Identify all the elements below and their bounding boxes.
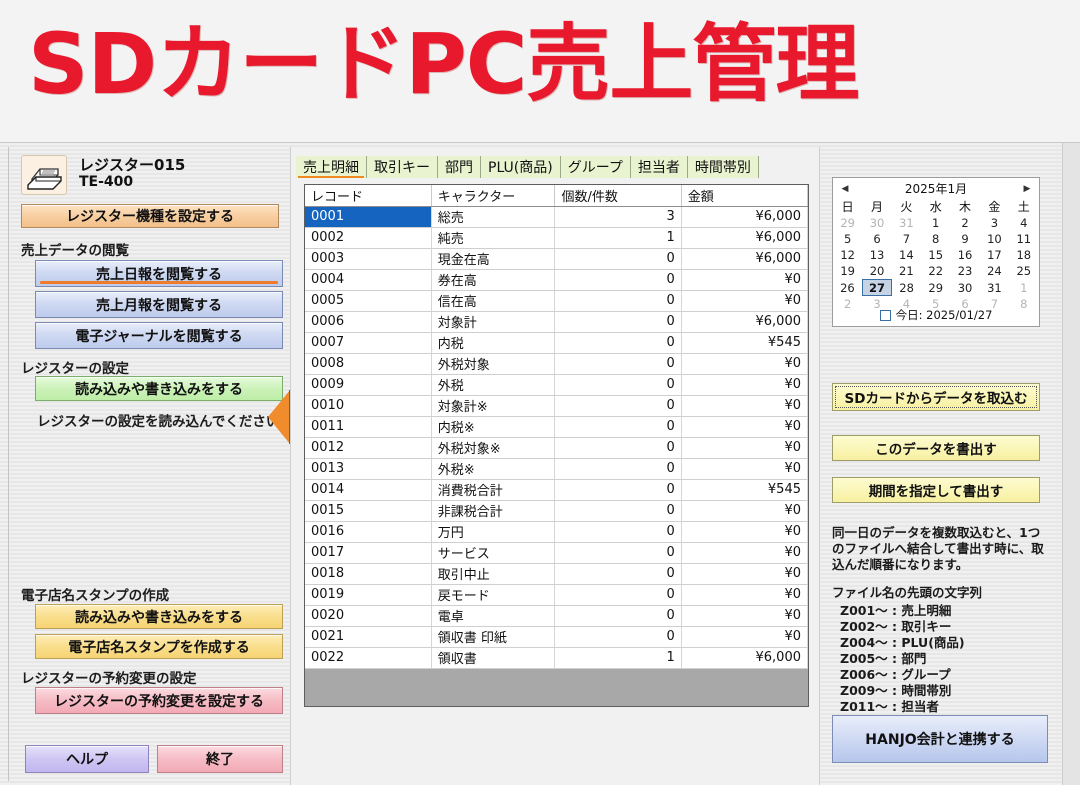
calendar-day-cell[interactable]: 13 bbox=[862, 247, 891, 263]
calendar-weekday: 火 bbox=[892, 198, 921, 215]
grid-cell[interactable]: ¥0 bbox=[681, 374, 807, 395]
stamp-read-write-button[interactable]: 読み込みや書き込みをする bbox=[35, 604, 283, 629]
table-row[interactable]: 0001総売3¥6,000 bbox=[305, 206, 808, 227]
calendar-day-cell[interactable]: 31 bbox=[980, 280, 1009, 296]
grid-cell[interactable]: 0 bbox=[555, 479, 681, 500]
grid-cell[interactable]: ¥0 bbox=[681, 521, 807, 542]
grid-cell[interactable]: 0 bbox=[555, 290, 681, 311]
register-settings-hint: レジスターの設定を読み込んでください。 bbox=[37, 410, 293, 430]
grid-cell[interactable]: 0 bbox=[555, 584, 681, 605]
calendar-day-cell[interactable]: 30 bbox=[950, 280, 979, 296]
calendar-month-label[interactable]: 2025年1月 bbox=[905, 180, 967, 197]
table-row[interactable]: 0022領収書1¥6,000 bbox=[305, 647, 808, 668]
grid-cell[interactable]: 0 bbox=[555, 395, 681, 416]
tab-1[interactable]: 売上明細 bbox=[296, 156, 367, 178]
grid-cell[interactable]: 1 bbox=[555, 227, 681, 248]
app-title: SDカードPC売上管理 bbox=[28, 14, 858, 114]
grid-cell[interactable]: 0016 bbox=[305, 521, 431, 542]
set-register-model-button[interactable]: レジスター機種を設定する bbox=[21, 204, 279, 228]
tab-7[interactable]: 時間帯別 bbox=[688, 156, 759, 178]
register-header: レジスター015 TE-400 bbox=[21, 155, 283, 199]
calendar-day-cell[interactable]: 28 bbox=[892, 280, 921, 296]
main-window: レジスター015 TE-400 レジスター機種を設定する 売上データの閲覧 売上… bbox=[0, 142, 1080, 784]
grid-cell[interactable]: ¥545 bbox=[681, 332, 807, 353]
calendar-day-cell[interactable]: 22 bbox=[921, 263, 950, 280]
calendar-day-cell[interactable]: 11 bbox=[1009, 231, 1038, 247]
grid-cell[interactable]: 0 bbox=[555, 458, 681, 479]
grid-cell[interactable]: 0002 bbox=[305, 227, 431, 248]
calendar-weekday: 日 bbox=[833, 198, 862, 215]
grid-header-row: レコードキャラクター個数/件数金額 bbox=[305, 185, 808, 206]
calendar-day-cell[interactable]: 27 bbox=[862, 280, 891, 296]
table-row[interactable]: 0013外税※0¥0 bbox=[305, 458, 808, 479]
calendar-header: ◀ 2025年1月 ▶ bbox=[833, 178, 1039, 198]
grid-cell[interactable]: 取引中止 bbox=[431, 563, 555, 584]
grid-cell[interactable]: ¥0 bbox=[681, 437, 807, 458]
table-row[interactable]: 0016万円0¥0 bbox=[305, 521, 808, 542]
calendar-day-cell[interactable]: 7 bbox=[892, 231, 921, 247]
grid-cell[interactable]: ¥0 bbox=[681, 416, 807, 437]
set-reservation-change-button[interactable]: レジスターの予約変更を設定する bbox=[35, 687, 283, 714]
grid-cell[interactable]: 0017 bbox=[305, 542, 431, 563]
calendar-day-cell[interactable]: 26 bbox=[833, 280, 862, 296]
calendar-week-row: 2930311234 bbox=[833, 215, 1039, 231]
calendar-day-cell[interactable]: 21 bbox=[892, 263, 921, 280]
calendar-day-cell[interactable]: 14 bbox=[892, 247, 921, 263]
calendar-day-cell[interactable]: 31 bbox=[892, 215, 921, 231]
table-row[interactable]: 0007内税0¥545 bbox=[305, 332, 808, 353]
date-picker-calendar[interactable]: ◀ 2025年1月 ▶ 日月火水木金土 29303112345678910111… bbox=[832, 177, 1040, 327]
grid-cell[interactable]: 電卓 bbox=[431, 605, 555, 626]
today-checkbox[interactable] bbox=[880, 310, 891, 321]
view-daily-report-button[interactable]: 売上日報を閲覧する bbox=[35, 260, 283, 287]
tab-2[interactable]: 取引キー bbox=[367, 156, 438, 178]
calendar-day-cell[interactable]: 29 bbox=[833, 215, 862, 231]
grid-cell[interactable]: 0010 bbox=[305, 395, 431, 416]
calendar-day-cell[interactable]: 2 bbox=[950, 215, 979, 231]
calendar-week-row: 2627282930311 bbox=[833, 280, 1039, 296]
import-from-sd-card-button[interactable]: SDカードからデータを取込む bbox=[832, 383, 1040, 411]
grid-cell[interactable]: 券在高 bbox=[431, 269, 555, 290]
grid-cell[interactable]: ¥0 bbox=[681, 626, 807, 647]
table-row[interactable]: 0015非課税合計0¥0 bbox=[305, 500, 808, 521]
grid-cell[interactable]: 0022 bbox=[305, 647, 431, 668]
grid-cell[interactable]: ¥6,000 bbox=[681, 248, 807, 269]
grid-cell[interactable]: 外税対象※ bbox=[431, 437, 555, 458]
pointer-arrow-icon bbox=[268, 390, 290, 444]
grid-column-header-1[interactable]: レコード bbox=[305, 185, 431, 206]
table-row[interactable]: 0018取引中止0¥0 bbox=[305, 563, 808, 584]
calendar-day-cell[interactable]: 8 bbox=[921, 231, 950, 247]
grid-column-header-2[interactable]: キャラクター bbox=[431, 185, 555, 206]
calendar-today-row[interactable]: 今日: 2025/01/27 bbox=[833, 307, 1039, 323]
grid-cell[interactable]: 0 bbox=[555, 353, 681, 374]
tab-bar: 売上明細取引キー部門PLU(商品)グループ担当者時間帯別 bbox=[296, 155, 759, 178]
calendar-day-cell[interactable]: 24 bbox=[980, 263, 1009, 280]
register-model: TE-400 bbox=[79, 174, 133, 190]
grid-cell[interactable]: 外税対象 bbox=[431, 353, 555, 374]
file-prefix-list: Z001～ : 売上明細 Z002～ : 取引キー Z004～ : PLU(商品… bbox=[840, 603, 965, 715]
calendar-day-cell[interactable]: 9 bbox=[950, 231, 979, 247]
hanjo-link-button[interactable]: HANJO会計と連携する bbox=[832, 715, 1048, 763]
calendar-day-cell[interactable]: 15 bbox=[921, 247, 950, 263]
view-electronic-journal-button[interactable]: 電子ジャーナルを閲覧する bbox=[35, 322, 283, 349]
sidebar: レジスター015 TE-400 レジスター機種を設定する 売上データの閲覧 売上… bbox=[8, 147, 290, 781]
help-button[interactable]: ヘルプ bbox=[25, 745, 149, 773]
import-note-text: 同一日のデータを複数取込むと、1つ のファイルへ結合して書出す時に、取 込んだ順… bbox=[832, 525, 1044, 573]
sales-detail-grid[interactable]: レコードキャラクター個数/件数金額 0001総売3¥6,0000002純売1¥6… bbox=[304, 184, 809, 707]
grid-cell[interactable]: ¥0 bbox=[681, 353, 807, 374]
grid-cell[interactable]: 0 bbox=[555, 563, 681, 584]
calendar-day-cell[interactable]: 17 bbox=[980, 247, 1009, 263]
grid-cell[interactable]: 0014 bbox=[305, 479, 431, 500]
calendar-day-cell[interactable]: 5 bbox=[833, 231, 862, 247]
grid-column-header-4[interactable]: 金額 bbox=[681, 185, 807, 206]
calendar-day-cell[interactable]: 4 bbox=[1009, 215, 1038, 231]
grid-cell[interactable]: 0 bbox=[555, 626, 681, 647]
grid-cell[interactable]: 現金在高 bbox=[431, 248, 555, 269]
grid-cell[interactable]: 0 bbox=[555, 248, 681, 269]
table-row[interactable]: 0006対象計0¥6,000 bbox=[305, 311, 808, 332]
grid-cell[interactable]: 領収書 bbox=[431, 647, 555, 668]
calendar-day-cell[interactable]: 1 bbox=[1009, 280, 1038, 296]
section-label-reservation: レジスターの予約変更の設定 bbox=[21, 667, 197, 687]
calendar-day-cell[interactable]: 10 bbox=[980, 231, 1009, 247]
application-window: SDカードPC売上管理 レジスター015 TE-400 bbox=[0, 0, 1080, 784]
calendar-day-cell[interactable]: 29 bbox=[921, 280, 950, 296]
cash-register-icon bbox=[21, 155, 67, 195]
table-row[interactable]: 0004券在高0¥0 bbox=[305, 269, 808, 290]
calendar-week-row: 567891011 bbox=[833, 231, 1039, 247]
grid-cell[interactable]: 0015 bbox=[305, 500, 431, 521]
grid-cell[interactable]: 0 bbox=[555, 437, 681, 458]
grid-cell[interactable]: ¥6,000 bbox=[681, 647, 807, 668]
table-row[interactable]: 0002純売1¥6,000 bbox=[305, 227, 808, 248]
grid-cell[interactable]: 内税※ bbox=[431, 416, 555, 437]
grid-cell[interactable]: ¥0 bbox=[681, 605, 807, 626]
grid-cell[interactable]: ¥0 bbox=[681, 563, 807, 584]
register-name: レジスター015 bbox=[79, 154, 185, 175]
table-row[interactable]: 0003現金在高0¥6,000 bbox=[305, 248, 808, 269]
tab-4[interactable]: PLU(商品) bbox=[481, 156, 561, 178]
calendar-next-month-icon[interactable]: ▶ bbox=[1021, 183, 1033, 195]
main-content-panel: 売上明細取引キー部門PLU(商品)グループ担当者時間帯別 レコードキャラクター個… bbox=[290, 147, 820, 785]
grid-cell[interactable]: ¥6,000 bbox=[681, 311, 807, 332]
grid-cell[interactable]: 領収書 印紙 bbox=[431, 626, 555, 647]
calendar-weekday: 金 bbox=[980, 198, 1009, 215]
tab-5[interactable]: グループ bbox=[561, 156, 631, 178]
grid-cell[interactable]: 外税※ bbox=[431, 458, 555, 479]
table-row[interactable]: 0019戻モード0¥0 bbox=[305, 584, 808, 605]
calendar-week-row: 12131415161718 bbox=[833, 247, 1039, 263]
grid-cell[interactable]: 対象計※ bbox=[431, 395, 555, 416]
grid-cell[interactable]: ¥6,000 bbox=[681, 206, 807, 227]
grid-cell[interactable]: 0021 bbox=[305, 626, 431, 647]
grid-cell[interactable]: 0006 bbox=[305, 311, 431, 332]
tab-3[interactable]: 部門 bbox=[438, 156, 481, 178]
grid-cell[interactable]: 消費税合計 bbox=[431, 479, 555, 500]
grid-cell[interactable]: 0019 bbox=[305, 584, 431, 605]
calendar-day-cell[interactable]: 25 bbox=[1009, 263, 1038, 280]
grid-cell[interactable]: 0013 bbox=[305, 458, 431, 479]
export-range-button[interactable]: 期間を指定して書出す bbox=[832, 477, 1040, 503]
calendar-day-cell[interactable]: 19 bbox=[833, 263, 862, 280]
grid-cell[interactable]: 1 bbox=[555, 647, 681, 668]
calendar-day-cell[interactable]: 3 bbox=[980, 215, 1009, 231]
calendar-weekday: 水 bbox=[921, 198, 950, 215]
grid-cell[interactable]: ¥0 bbox=[681, 458, 807, 479]
view-monthly-report-button[interactable]: 売上月報を閲覧する bbox=[35, 291, 283, 318]
grid-cell[interactable]: 3 bbox=[555, 206, 681, 227]
grid-cell[interactable]: 0 bbox=[555, 500, 681, 521]
grid-cell[interactable]: 0018 bbox=[305, 563, 431, 584]
grid-cell[interactable]: 総売 bbox=[431, 206, 555, 227]
grid-cell[interactable]: 0 bbox=[555, 374, 681, 395]
grid-cell[interactable]: 0003 bbox=[305, 248, 431, 269]
register-read-write-button[interactable]: 読み込みや書き込みをする bbox=[35, 376, 283, 401]
calendar-day-cell[interactable]: 1 bbox=[921, 215, 950, 231]
grid-cell[interactable]: ¥6,000 bbox=[681, 227, 807, 248]
calendar-day-cell[interactable]: 18 bbox=[1009, 247, 1038, 263]
table-row[interactable]: 0014消費税合計0¥545 bbox=[305, 479, 808, 500]
export-data-button[interactable]: このデータを書出す bbox=[832, 435, 1040, 461]
table-row[interactable]: 0012外税対象※0¥0 bbox=[305, 437, 808, 458]
right-panel: ◀ 2025年1月 ▶ 日月火水木金土 29303112345678910111… bbox=[820, 147, 1060, 785]
grid-cell[interactable]: 万円 bbox=[431, 521, 555, 542]
grid-cell[interactable]: 0008 bbox=[305, 353, 431, 374]
calendar-day-cell[interactable]: 30 bbox=[862, 215, 891, 231]
grid-cell[interactable]: 純売 bbox=[431, 227, 555, 248]
create-stamp-button[interactable]: 電子店名スタンプを作成する bbox=[35, 634, 283, 659]
section-label-register-settings: レジスターの設定 bbox=[21, 357, 129, 377]
grid-cell[interactable]: 外税 bbox=[431, 374, 555, 395]
table-row[interactable]: 0020電卓0¥0 bbox=[305, 605, 808, 626]
table-row[interactable]: 0008外税対象0¥0 bbox=[305, 353, 808, 374]
grid-cell[interactable]: ¥0 bbox=[681, 290, 807, 311]
grid-cell[interactable]: 0004 bbox=[305, 269, 431, 290]
calendar-day-cell[interactable]: 6 bbox=[862, 231, 891, 247]
grid-cell[interactable]: ¥545 bbox=[681, 479, 807, 500]
grid-cell[interactable]: 0 bbox=[555, 311, 681, 332]
active-indicator-bar bbox=[40, 281, 278, 284]
grid-cell[interactable]: 非課税合計 bbox=[431, 500, 555, 521]
grid-cell[interactable]: 0 bbox=[555, 332, 681, 353]
app-banner: SDカードPC売上管理 bbox=[0, 0, 1080, 142]
grid-cell[interactable]: 対象計 bbox=[431, 311, 555, 332]
grid-cell[interactable]: 0007 bbox=[305, 332, 431, 353]
calendar-week-row: 19202122232425 bbox=[833, 263, 1039, 280]
grid-column-header-3[interactable]: 個数/件数 bbox=[555, 185, 681, 206]
calendar-day-cell[interactable]: 20 bbox=[862, 263, 891, 280]
grid-cell[interactable]: 0012 bbox=[305, 437, 431, 458]
table-row[interactable]: 0017サービス0¥0 bbox=[305, 542, 808, 563]
file-prefix-title: ファイル名の先頭の文字列 bbox=[832, 585, 982, 601]
grid-cell[interactable]: 0 bbox=[555, 416, 681, 437]
grid-cell[interactable]: ¥0 bbox=[681, 269, 807, 290]
section-label-sales-view: 売上データの閲覧 bbox=[21, 239, 129, 259]
grid-cell[interactable]: 0009 bbox=[305, 374, 431, 395]
grid-cell[interactable]: 0 bbox=[555, 521, 681, 542]
grid-cell[interactable]: 0 bbox=[555, 542, 681, 563]
grid-cell[interactable]: ¥0 bbox=[681, 500, 807, 521]
table-row[interactable]: 0011内税※0¥0 bbox=[305, 416, 808, 437]
calendar-weekday-row: 日月火水木金土 bbox=[833, 198, 1039, 215]
window-right-edge bbox=[1062, 143, 1080, 785]
grid-cell[interactable]: ¥0 bbox=[681, 542, 807, 563]
calendar-prev-month-icon[interactable]: ◀ bbox=[839, 183, 851, 195]
table-row[interactable]: 0005信在高0¥0 bbox=[305, 290, 808, 311]
grid-cell[interactable]: 0 bbox=[555, 269, 681, 290]
calendar-weekday: 土 bbox=[1009, 198, 1038, 215]
calendar-day-cell[interactable]: 23 bbox=[950, 263, 979, 280]
grid-cell[interactable]: 内税 bbox=[431, 332, 555, 353]
table-row[interactable]: 0021領収書 印紙0¥0 bbox=[305, 626, 808, 647]
calendar-day-cell[interactable]: 16 bbox=[950, 247, 979, 263]
grid-cell[interactable]: 0 bbox=[555, 605, 681, 626]
exit-button[interactable]: 終了 bbox=[157, 745, 283, 773]
grid-cell[interactable]: 0005 bbox=[305, 290, 431, 311]
calendar-weekday: 木 bbox=[950, 198, 979, 215]
grid-cell[interactable]: 0011 bbox=[305, 416, 431, 437]
calendar-weekday: 月 bbox=[862, 198, 891, 215]
table-row[interactable]: 0009外税0¥0 bbox=[305, 374, 808, 395]
grid-cell[interactable]: ¥0 bbox=[681, 395, 807, 416]
tab-6[interactable]: 担当者 bbox=[631, 156, 688, 178]
grid-cell[interactable]: 戻モード bbox=[431, 584, 555, 605]
grid-cell[interactable]: 信在高 bbox=[431, 290, 555, 311]
grid-cell[interactable]: 0020 bbox=[305, 605, 431, 626]
grid-cell[interactable]: サービス bbox=[431, 542, 555, 563]
grid-cell[interactable]: 0001 bbox=[305, 206, 431, 227]
section-label-stamp: 電子店名スタンプの作成 bbox=[21, 584, 169, 604]
today-label: 今日: 2025/01/27 bbox=[896, 307, 993, 323]
calendar-day-cell[interactable]: 12 bbox=[833, 247, 862, 263]
table-row[interactable]: 0010対象計※0¥0 bbox=[305, 395, 808, 416]
grid-cell[interactable]: ¥0 bbox=[681, 584, 807, 605]
